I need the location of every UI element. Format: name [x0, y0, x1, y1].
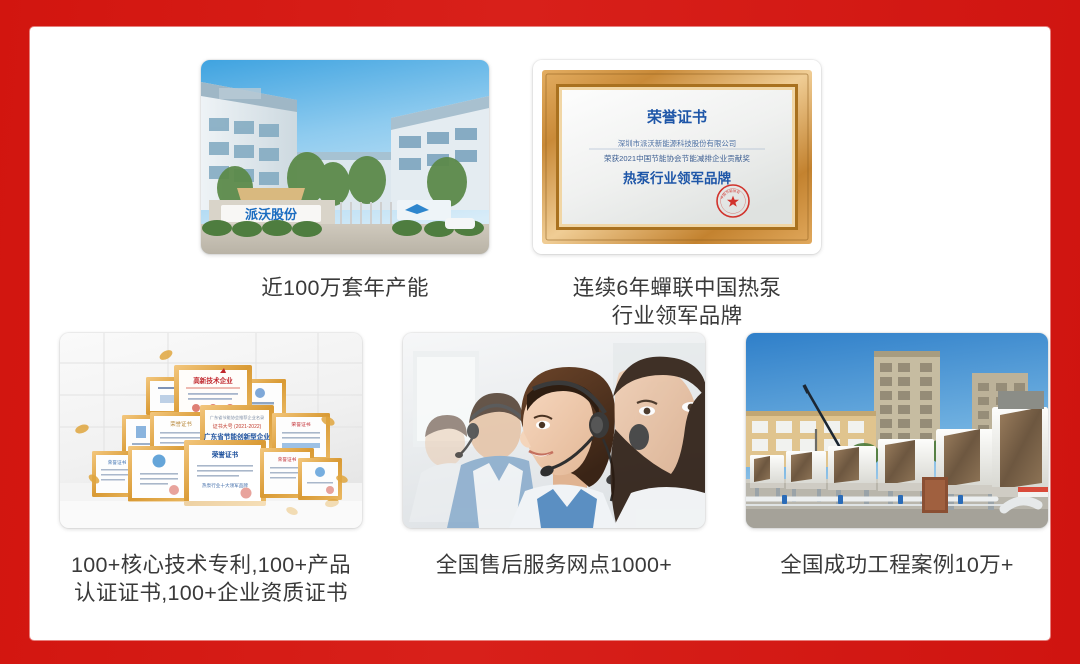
svg-text:证书大号 (2021-2022): 证书大号 (2021-2022) — [213, 423, 262, 430]
feature-caption: 全国成功工程案例10万+ — [780, 551, 1014, 579]
feature-card-service-network[interactable]: 全国售后服务网点1000+ — [403, 333, 705, 608]
poster-root: 派沃股份 — [0, 0, 1080, 664]
factory-building-photo[interactable]: 派沃股份 — [201, 60, 489, 254]
call-center-staff-photo[interactable] — [403, 333, 705, 528]
svg-text:荣誉证书: 荣誉证书 — [291, 421, 310, 428]
svg-text:广东省节能创新型企业: 广东省节能创新型企业 — [204, 432, 270, 441]
svg-text:高新技术企业: 高新技术企业 — [193, 376, 233, 385]
feature-card-patents-and-certificates[interactable]: 高新技术企业 — [60, 333, 362, 608]
feature-caption: 100+核心技术专利,100+产品 认证证书,100+企业资质证书 — [71, 551, 351, 608]
svg-text:荣誉证书: 荣誉证书 — [278, 456, 297, 463]
svg-text:深圳市派沃新能源科技股份有限公司: 深圳市派沃新能源科技股份有限公司 — [618, 139, 736, 148]
certificate-wall-photo[interactable]: 高新技术企业 — [60, 333, 362, 528]
svg-text:派沃股份: 派沃股份 — [245, 207, 298, 222]
svg-text:热泵行业十大领军品牌: 热泵行业十大领军品牌 — [202, 482, 248, 489]
svg-text:荣誉证书: 荣誉证书 — [108, 459, 127, 466]
svg-text:荣誉证书: 荣誉证书 — [170, 420, 192, 428]
svg-text:广东省节能协会推荐企业名录: 广东省节能协会推荐企业名录 — [210, 414, 264, 421]
feature-caption: 连续6年蟬联中国热泵 行业领军品牌 — [573, 274, 781, 331]
honor-certificate-photo[interactable]: 荣誉证书 深圳市派沃新能源科技股份有限公司 荣获2021中国节能协会节能减排企业… — [533, 60, 821, 254]
feature-card-project-cases[interactable]: 全国成功工程案例10万+ — [746, 333, 1048, 608]
svg-text:热泵行业领军品牌: 热泵行业领军品牌 — [623, 170, 731, 186]
svg-text:荣誉证书: 荣誉证书 — [646, 108, 707, 126]
svg-text:荣誉证书: 荣誉证书 — [211, 450, 239, 459]
svg-text:荣获2021中国节能协会节能减排企业贡献奖: 荣获2021中国节能协会节能减排企业贡献奖 — [604, 153, 750, 163]
feature-row-bottom: 高新技术企业 — [60, 333, 1050, 608]
heat-pump-installation-photo[interactable] — [746, 333, 1048, 528]
white-content-panel: 派沃股份 — [30, 27, 1050, 640]
feature-card-leading-brand[interactable]: 荣誉证书 深圳市派沃新能源科技股份有限公司 荣获2021中国节能协会节能减排企业… — [533, 60, 821, 331]
feature-card-annual-capacity[interactable]: 派沃股份 — [201, 60, 489, 331]
feature-caption: 近100万套年产能 — [261, 274, 429, 302]
feature-row-top: 派沃股份 — [201, 60, 901, 331]
feature-caption: 全国售后服务网点1000+ — [436, 551, 672, 579]
